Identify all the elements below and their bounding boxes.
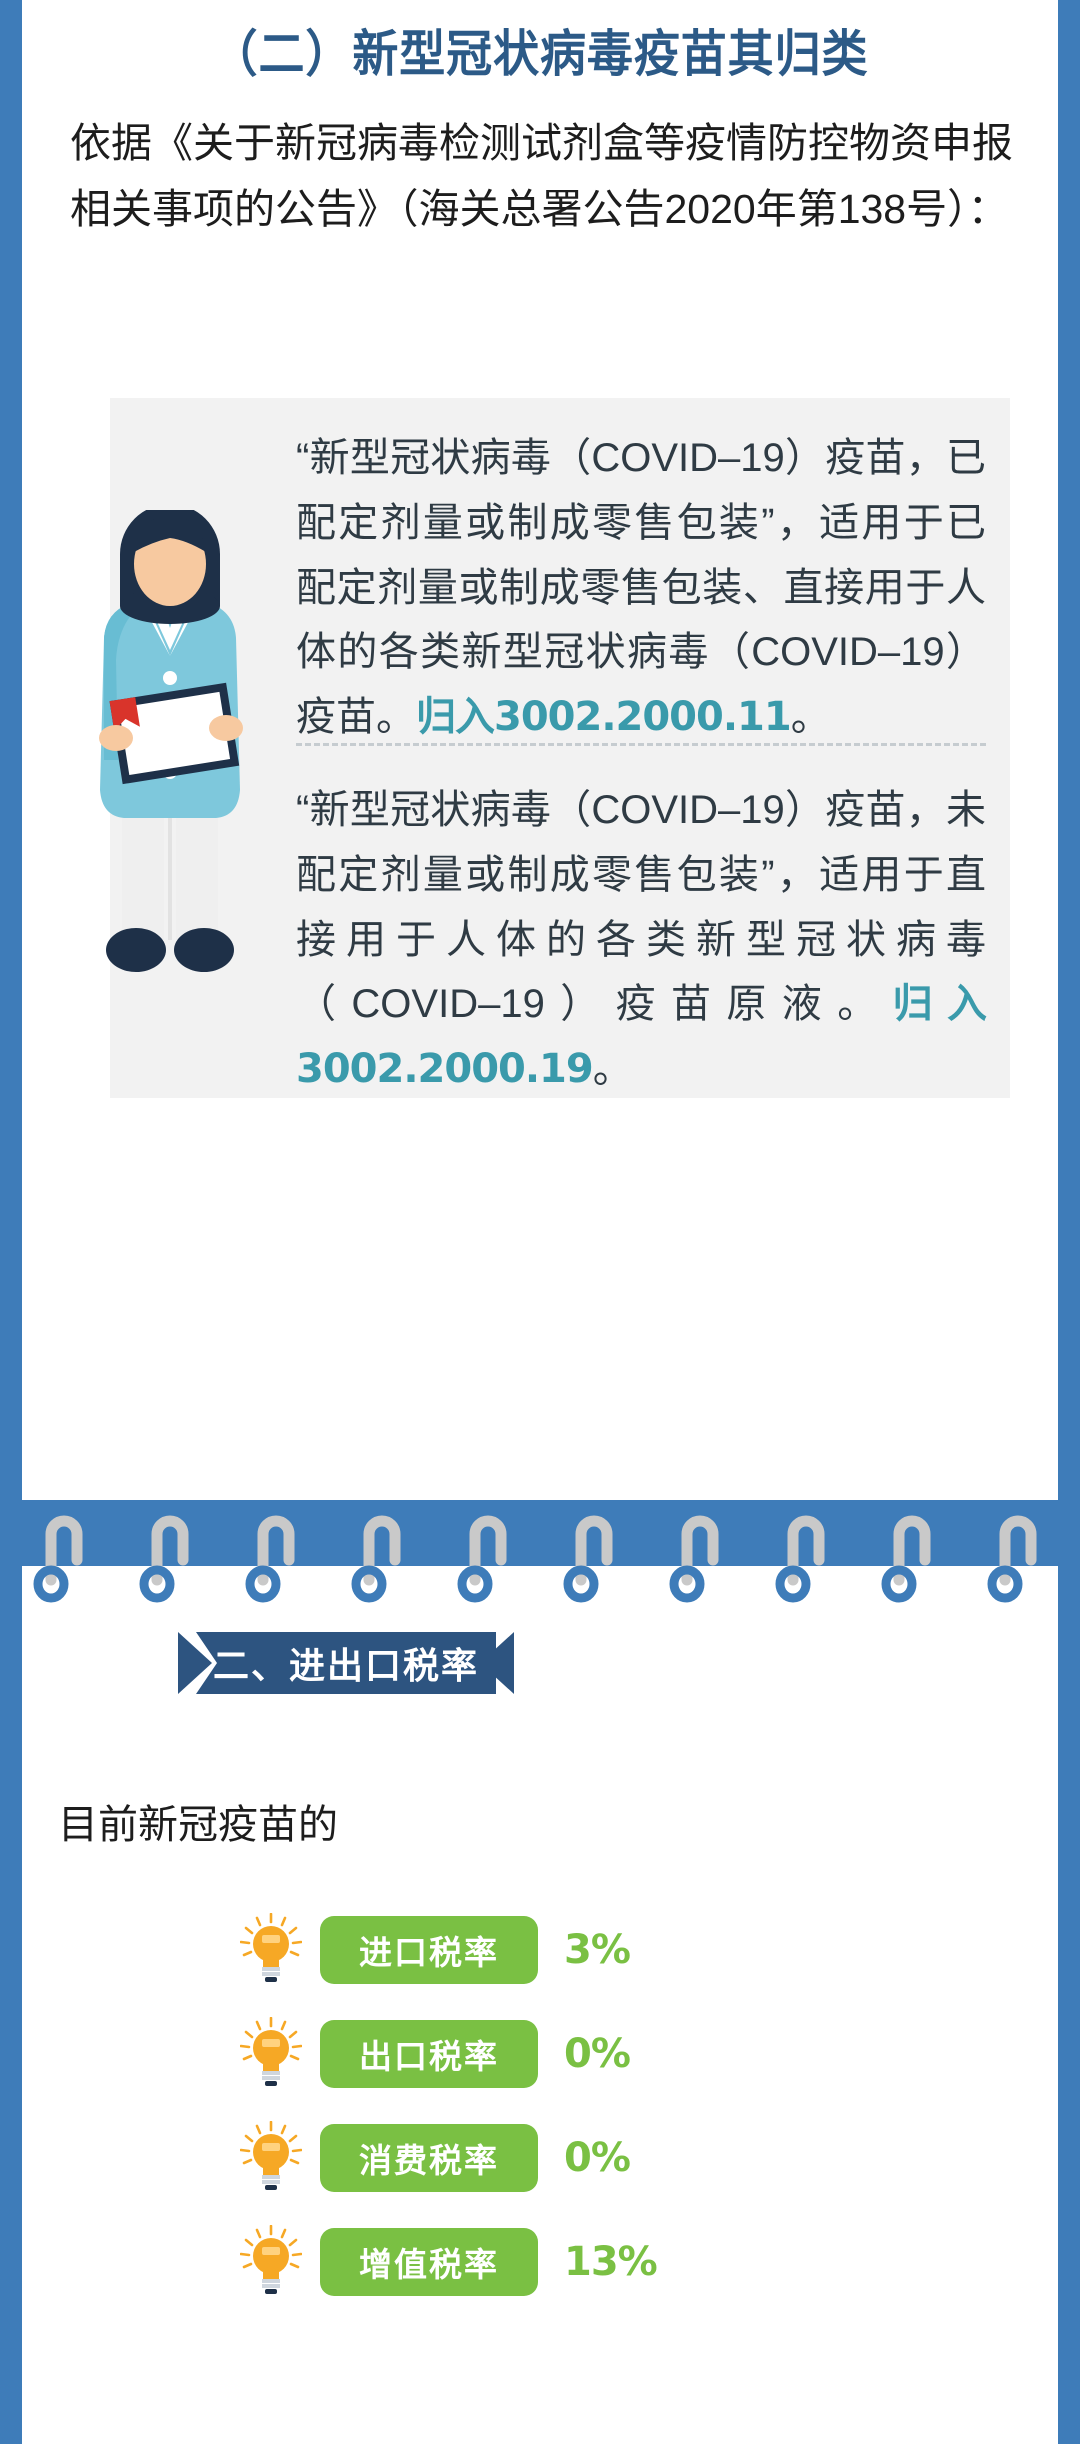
tax-rate-badge: 出口税率 bbox=[320, 2020, 538, 2088]
quote-divider bbox=[296, 743, 986, 746]
tax-rate-row[interactable]: 消费税率 0% bbox=[0, 2106, 1036, 2210]
tax-rate-value: 0% bbox=[564, 2031, 630, 2077]
tax-rate-value: 13% bbox=[564, 2239, 657, 2285]
quote-paragraph-2: “新型冠状病毒（COVID–19）疫苗，未配定剂量或制成零售包装”，适用于直接用… bbox=[296, 778, 986, 1102]
nurse-with-clipboard-illustration bbox=[70, 510, 270, 990]
hs-code-1: 归入3002.2000.11 bbox=[416, 694, 791, 740]
panel-divider-strip bbox=[0, 1500, 1080, 1566]
tax-rate-list: 进口税率 3% 出口税率 0% bbox=[0, 1898, 1036, 2314]
tax-rate-row[interactable]: 出口税率 0% bbox=[0, 2002, 1036, 2106]
section-two-banner: 二、进出口税率 bbox=[196, 1632, 496, 1694]
tax-rate-value: 0% bbox=[564, 2135, 630, 2181]
section-two-subtext: 目前新冠疫苗的 bbox=[58, 1792, 338, 1850]
tax-rate-badge: 进口税率 bbox=[320, 1916, 538, 1984]
section-one-card: （二）新型冠状病毒疫苗其归类 依据《关于新冠病毒检测试剂盒等疫情防控物资申报相关… bbox=[22, 0, 1058, 1500]
quote-paragraph-1: “新型冠状病毒（COVID–19）疫苗，已配定剂量或制成零售包装”，适用于已配定… bbox=[296, 426, 986, 750]
quote-2-tail: 。 bbox=[593, 1047, 633, 1091]
tax-rate-badge: 消费税率 bbox=[320, 2124, 538, 2192]
lightbulb-icon bbox=[240, 2121, 302, 2195]
lightbulb-icon bbox=[240, 2017, 302, 2091]
tax-rate-row[interactable]: 进口税率 3% bbox=[0, 1898, 1036, 2002]
quote-2-text: “新型冠状病毒（COVID–19）疫苗，未配定剂量或制成零售包装”，适用于直接用… bbox=[296, 788, 986, 1026]
lightbulb-icon bbox=[240, 2225, 302, 2299]
tax-rate-value: 3% bbox=[564, 1927, 630, 1973]
tax-rate-row[interactable]: 增值税率 13% bbox=[0, 2210, 1036, 2314]
lightbulb-icon bbox=[240, 1913, 302, 1987]
quote-1-tail: 。 bbox=[791, 695, 831, 739]
tax-rate-badge: 增值税率 bbox=[320, 2228, 538, 2296]
page-title: （二）新型冠状病毒疫苗其归类 bbox=[63, 14, 1016, 86]
lead-paragraph: 依据《关于新冠病毒检测试剂盒等疫情防控物资申报相关事项的公告》（海关总署公告20… bbox=[70, 110, 1030, 243]
